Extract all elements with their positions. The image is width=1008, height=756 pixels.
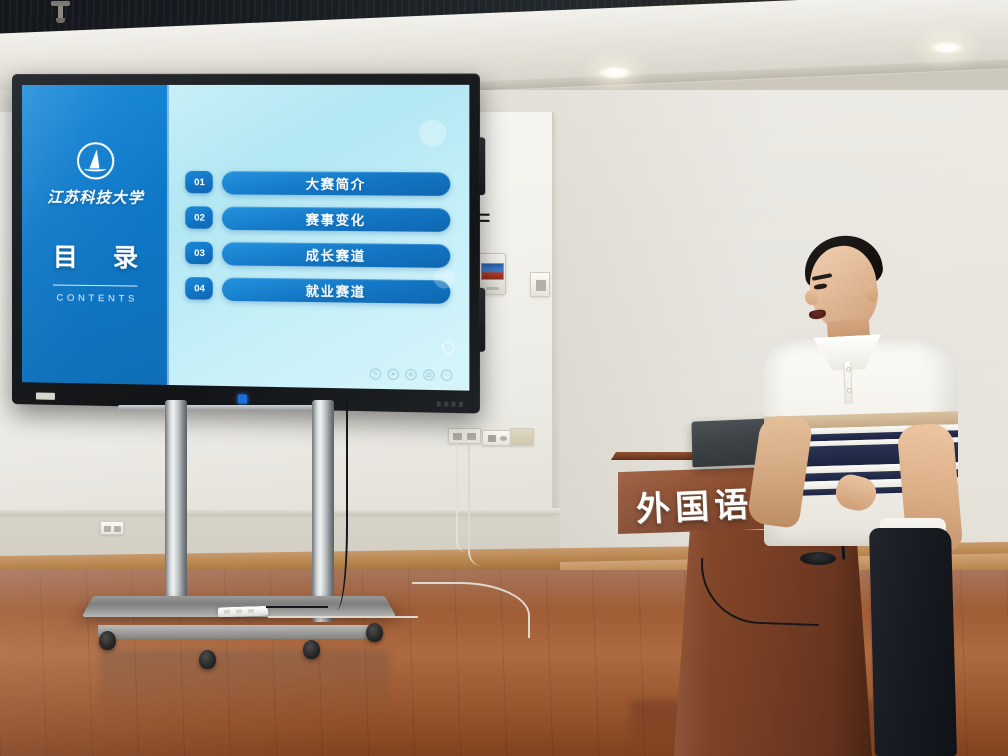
pen-icon[interactable]: ✎: [370, 368, 381, 379]
wall-blank-plate-icon: [510, 428, 534, 446]
caster-wheel-icon: [199, 650, 216, 669]
slide-heading-cn: 目 录: [40, 237, 151, 274]
floor-cable: [268, 616, 418, 640]
toc-number-badge: 03: [186, 242, 214, 265]
downlight-icon: [598, 66, 632, 79]
lecture-hall-photo: 江苏科技大学 目 录 CONTENTS 01 大赛简介 02 赛: [0, 0, 1008, 756]
wall-cable: [468, 444, 482, 566]
more-icon[interactable]: ⋯: [441, 370, 453, 382]
speaker-person: [752, 228, 964, 756]
control-panel-button[interactable]: [486, 287, 499, 290]
slide-left-panel: 江苏科技大学 目 录 CONTENTS: [22, 85, 169, 385]
toc-label[interactable]: 成长赛道: [222, 242, 450, 268]
display-screen[interactable]: 江苏科技大学 目 录 CONTENTS 01 大赛简介 02 赛: [22, 85, 469, 391]
stand-floor-reflection: [100, 650, 390, 720]
stand-post-left: [165, 400, 187, 612]
power-led-icon: [238, 394, 247, 403]
display-side-vent: [478, 214, 490, 216]
magnify-icon[interactable]: ⊕: [405, 369, 417, 380]
toc-item-03[interactable]: 03 成长赛道: [186, 241, 451, 267]
toc-item-02[interactable]: 02 赛事变化: [186, 206, 451, 232]
slide-heading-en: CONTENTS: [53, 292, 138, 304]
shirt-button: [847, 388, 852, 393]
display-side-buttons[interactable]: [479, 288, 485, 352]
display-brand-badge: [36, 392, 55, 399]
downlight-icon: [930, 41, 964, 54]
toc-number-badge: 01: [186, 171, 214, 193]
wall-data-port-icon: [482, 430, 512, 446]
presentation-slide: 江苏科技大学 目 录 CONTENTS 01 大赛简介 02 赛: [22, 85, 469, 391]
toc-number-badge: 04: [186, 277, 214, 300]
university-sail-emblem-icon: [77, 142, 114, 179]
wall-cable: [456, 444, 466, 552]
wall-outlet-icon: [100, 521, 124, 535]
toc-item-01[interactable]: 01 大赛简介: [186, 170, 451, 195]
interactive-flat-panel-display[interactable]: 江苏科技大学 目 录 CONTENTS 01 大赛简介 02 赛: [12, 73, 480, 413]
display-side-buttons[interactable]: [479, 137, 485, 195]
caster-wheel-icon: [303, 640, 320, 659]
shirt-button: [846, 367, 851, 372]
display-power-cord: [320, 400, 348, 610]
pointer-icon[interactable]: ➤: [387, 369, 399, 380]
heading-divider: [53, 284, 138, 286]
control-panel-screen: [481, 263, 504, 280]
university-name: 江苏科技大学: [47, 186, 144, 208]
toc-label[interactable]: 就业赛道: [222, 277, 450, 303]
display-bezel: 江苏科技大学 目 录 CONTENTS 01 大赛简介 02 赛: [12, 73, 480, 413]
toc-label[interactable]: 大赛简介: [222, 171, 450, 196]
wall-outlet-icon: [448, 428, 481, 444]
stand-crossbar: [118, 405, 318, 410]
wall-switch-icon: [530, 272, 550, 297]
slide-right-panel: 01 大赛简介 02 赛事变化 03 成长赛道 04: [169, 85, 469, 391]
power-strip-icon: [218, 606, 269, 617]
note-icon[interactable]: ▤: [423, 369, 435, 381]
slide-corner-button[interactable]: [442, 341, 455, 354]
slide-floating-toolbar[interactable]: ✎ ➤ ⊕ ▤ ⋯: [370, 368, 453, 381]
toc-item-04[interactable]: 04 就业赛道: [186, 277, 451, 304]
caster-wheel-icon: [99, 631, 116, 650]
display-front-ports[interactable]: [437, 401, 463, 407]
display-side-vent: [478, 220, 490, 222]
toc-label[interactable]: 赛事变化: [222, 206, 450, 231]
toc-number-badge: 02: [186, 206, 214, 228]
speaker-trousers: [869, 528, 957, 756]
sprinkler-head-icon: [58, 4, 63, 20]
